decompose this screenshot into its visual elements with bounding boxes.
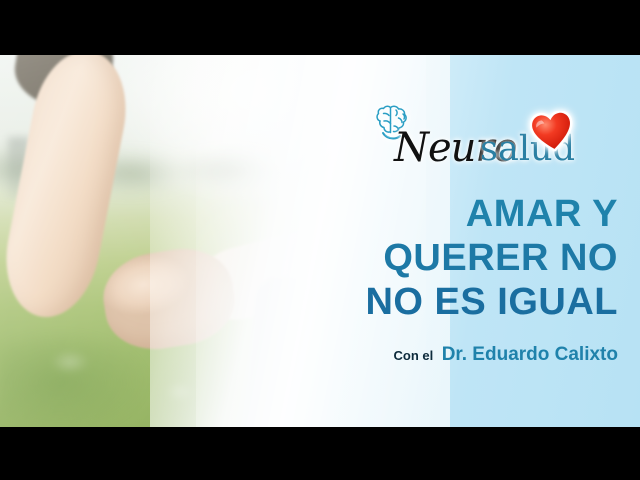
video-title: AMAR Y QUERER NO NO ES IGUAL (328, 192, 618, 324)
title-line-3: NO ES IGUAL (328, 280, 618, 324)
heart-icon (530, 111, 574, 153)
letterbox-bar-bottom (0, 427, 640, 480)
byline-prefix: Con el (394, 348, 434, 363)
neurosalud-logo: Neuro salud (368, 99, 598, 179)
title-line-1: AMAR Y (328, 192, 618, 236)
letterbox-bar-top (0, 0, 640, 55)
byline-presenter-name: Dr. Eduardo Calixto (442, 344, 618, 365)
thumbnail-content-band: Neuro salud AMAR Y Q (0, 55, 640, 427)
presenter-byline: Con el Dr. Eduardo Calixto (328, 344, 618, 366)
title-line-2: QUERER NO (328, 236, 618, 280)
video-thumbnail: Neuro salud AMAR Y Q (0, 0, 640, 480)
